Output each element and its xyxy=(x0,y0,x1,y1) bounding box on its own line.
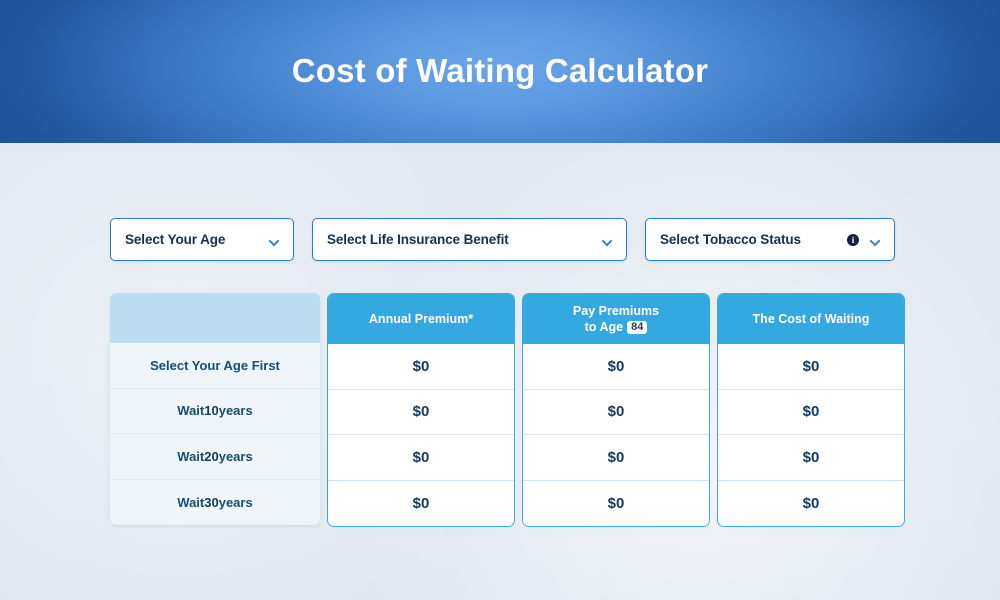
row-label-number-2: 20 xyxy=(204,449,218,464)
column-cost-of-waiting: The Cost of Waiting $0 $0 $0 $0 xyxy=(717,293,905,527)
selector-row: Select Your Age Select Life Insurance Be… xyxy=(110,218,895,261)
table-cell: $0 xyxy=(523,390,709,436)
column-header-line1: Pay Premiums xyxy=(573,303,659,319)
select-your-age-dropdown[interactable]: Select Your Age xyxy=(110,218,294,261)
table-row-label: Wait 10 years xyxy=(110,389,320,435)
results-table: Select Your Age First Wait 10 years Wait… xyxy=(110,293,905,527)
column-header-annual-premium: Annual Premium* xyxy=(328,294,514,344)
table-cell: $0 xyxy=(523,344,709,390)
table-cell: $0 xyxy=(328,390,514,436)
age-dropdown-label: Select Your Age xyxy=(125,232,270,247)
chevron-down-icon xyxy=(270,237,279,243)
row-label-prefix-2: Wait xyxy=(177,449,204,464)
column-header-line2-wrap: to Age84 xyxy=(585,319,648,335)
page-banner: Cost of Waiting Calculator xyxy=(0,0,1000,143)
tobacco-dropdown-label: Select Tobacco Status xyxy=(660,232,847,247)
chevron-down-icon xyxy=(603,237,612,243)
table-row-label: Select Your Age First xyxy=(110,343,320,389)
column-header-line1: Annual Premium* xyxy=(369,311,473,327)
row-label-prefix-1: Wait xyxy=(177,403,204,418)
info-icon[interactable]: i xyxy=(847,234,859,246)
page-title: Cost of Waiting Calculator xyxy=(292,53,708,89)
table-row-label: Wait 20 years xyxy=(110,434,320,480)
column-pay-premiums-to-age: Pay Premiums to Age84 $0 $0 $0 $0 xyxy=(522,293,710,527)
table-cell: $0 xyxy=(718,344,904,390)
table-cell: $0 xyxy=(328,344,514,390)
column-header-pay-premiums: Pay Premiums to Age84 xyxy=(523,294,709,344)
row-label-suffix-2: years xyxy=(219,449,253,464)
row-label-header-spacer xyxy=(110,293,320,343)
row-label-suffix-3: years xyxy=(219,495,253,510)
table-cell: $0 xyxy=(718,435,904,481)
age-badge: 84 xyxy=(627,321,647,334)
row-label-number-1: 10 xyxy=(204,403,218,418)
table-cell: $0 xyxy=(523,435,709,481)
row-label-suffix-1: years xyxy=(219,403,253,418)
column-header-line1: The Cost of Waiting xyxy=(753,311,870,327)
row-label-number-3: 30 xyxy=(204,495,218,510)
page-background: Cost of Waiting Calculator Select Your A… xyxy=(0,0,1000,600)
row-label-prefix-3: Wait xyxy=(177,495,204,510)
table-cell: $0 xyxy=(718,390,904,436)
row-label-text-0: Select Your Age First xyxy=(150,358,280,373)
chevron-down-icon xyxy=(871,237,880,243)
table-cell: $0 xyxy=(328,435,514,481)
select-tobacco-status-dropdown[interactable]: Select Tobacco Status i xyxy=(645,218,895,261)
select-life-insurance-benefit-dropdown[interactable]: Select Life Insurance Benefit xyxy=(312,218,627,261)
row-label-column: Select Your Age First Wait 10 years Wait… xyxy=(110,293,320,525)
benefit-dropdown-label: Select Life Insurance Benefit xyxy=(327,232,603,247)
table-row-label: Wait 30 years xyxy=(110,480,320,526)
table-cell: $0 xyxy=(523,481,709,527)
column-header-cost-of-waiting: The Cost of Waiting xyxy=(718,294,904,344)
column-header-line2: to Age xyxy=(585,320,623,334)
column-annual-premium: Annual Premium* $0 $0 $0 $0 xyxy=(327,293,515,527)
table-cell: $0 xyxy=(718,481,904,527)
table-cell: $0 xyxy=(328,481,514,527)
